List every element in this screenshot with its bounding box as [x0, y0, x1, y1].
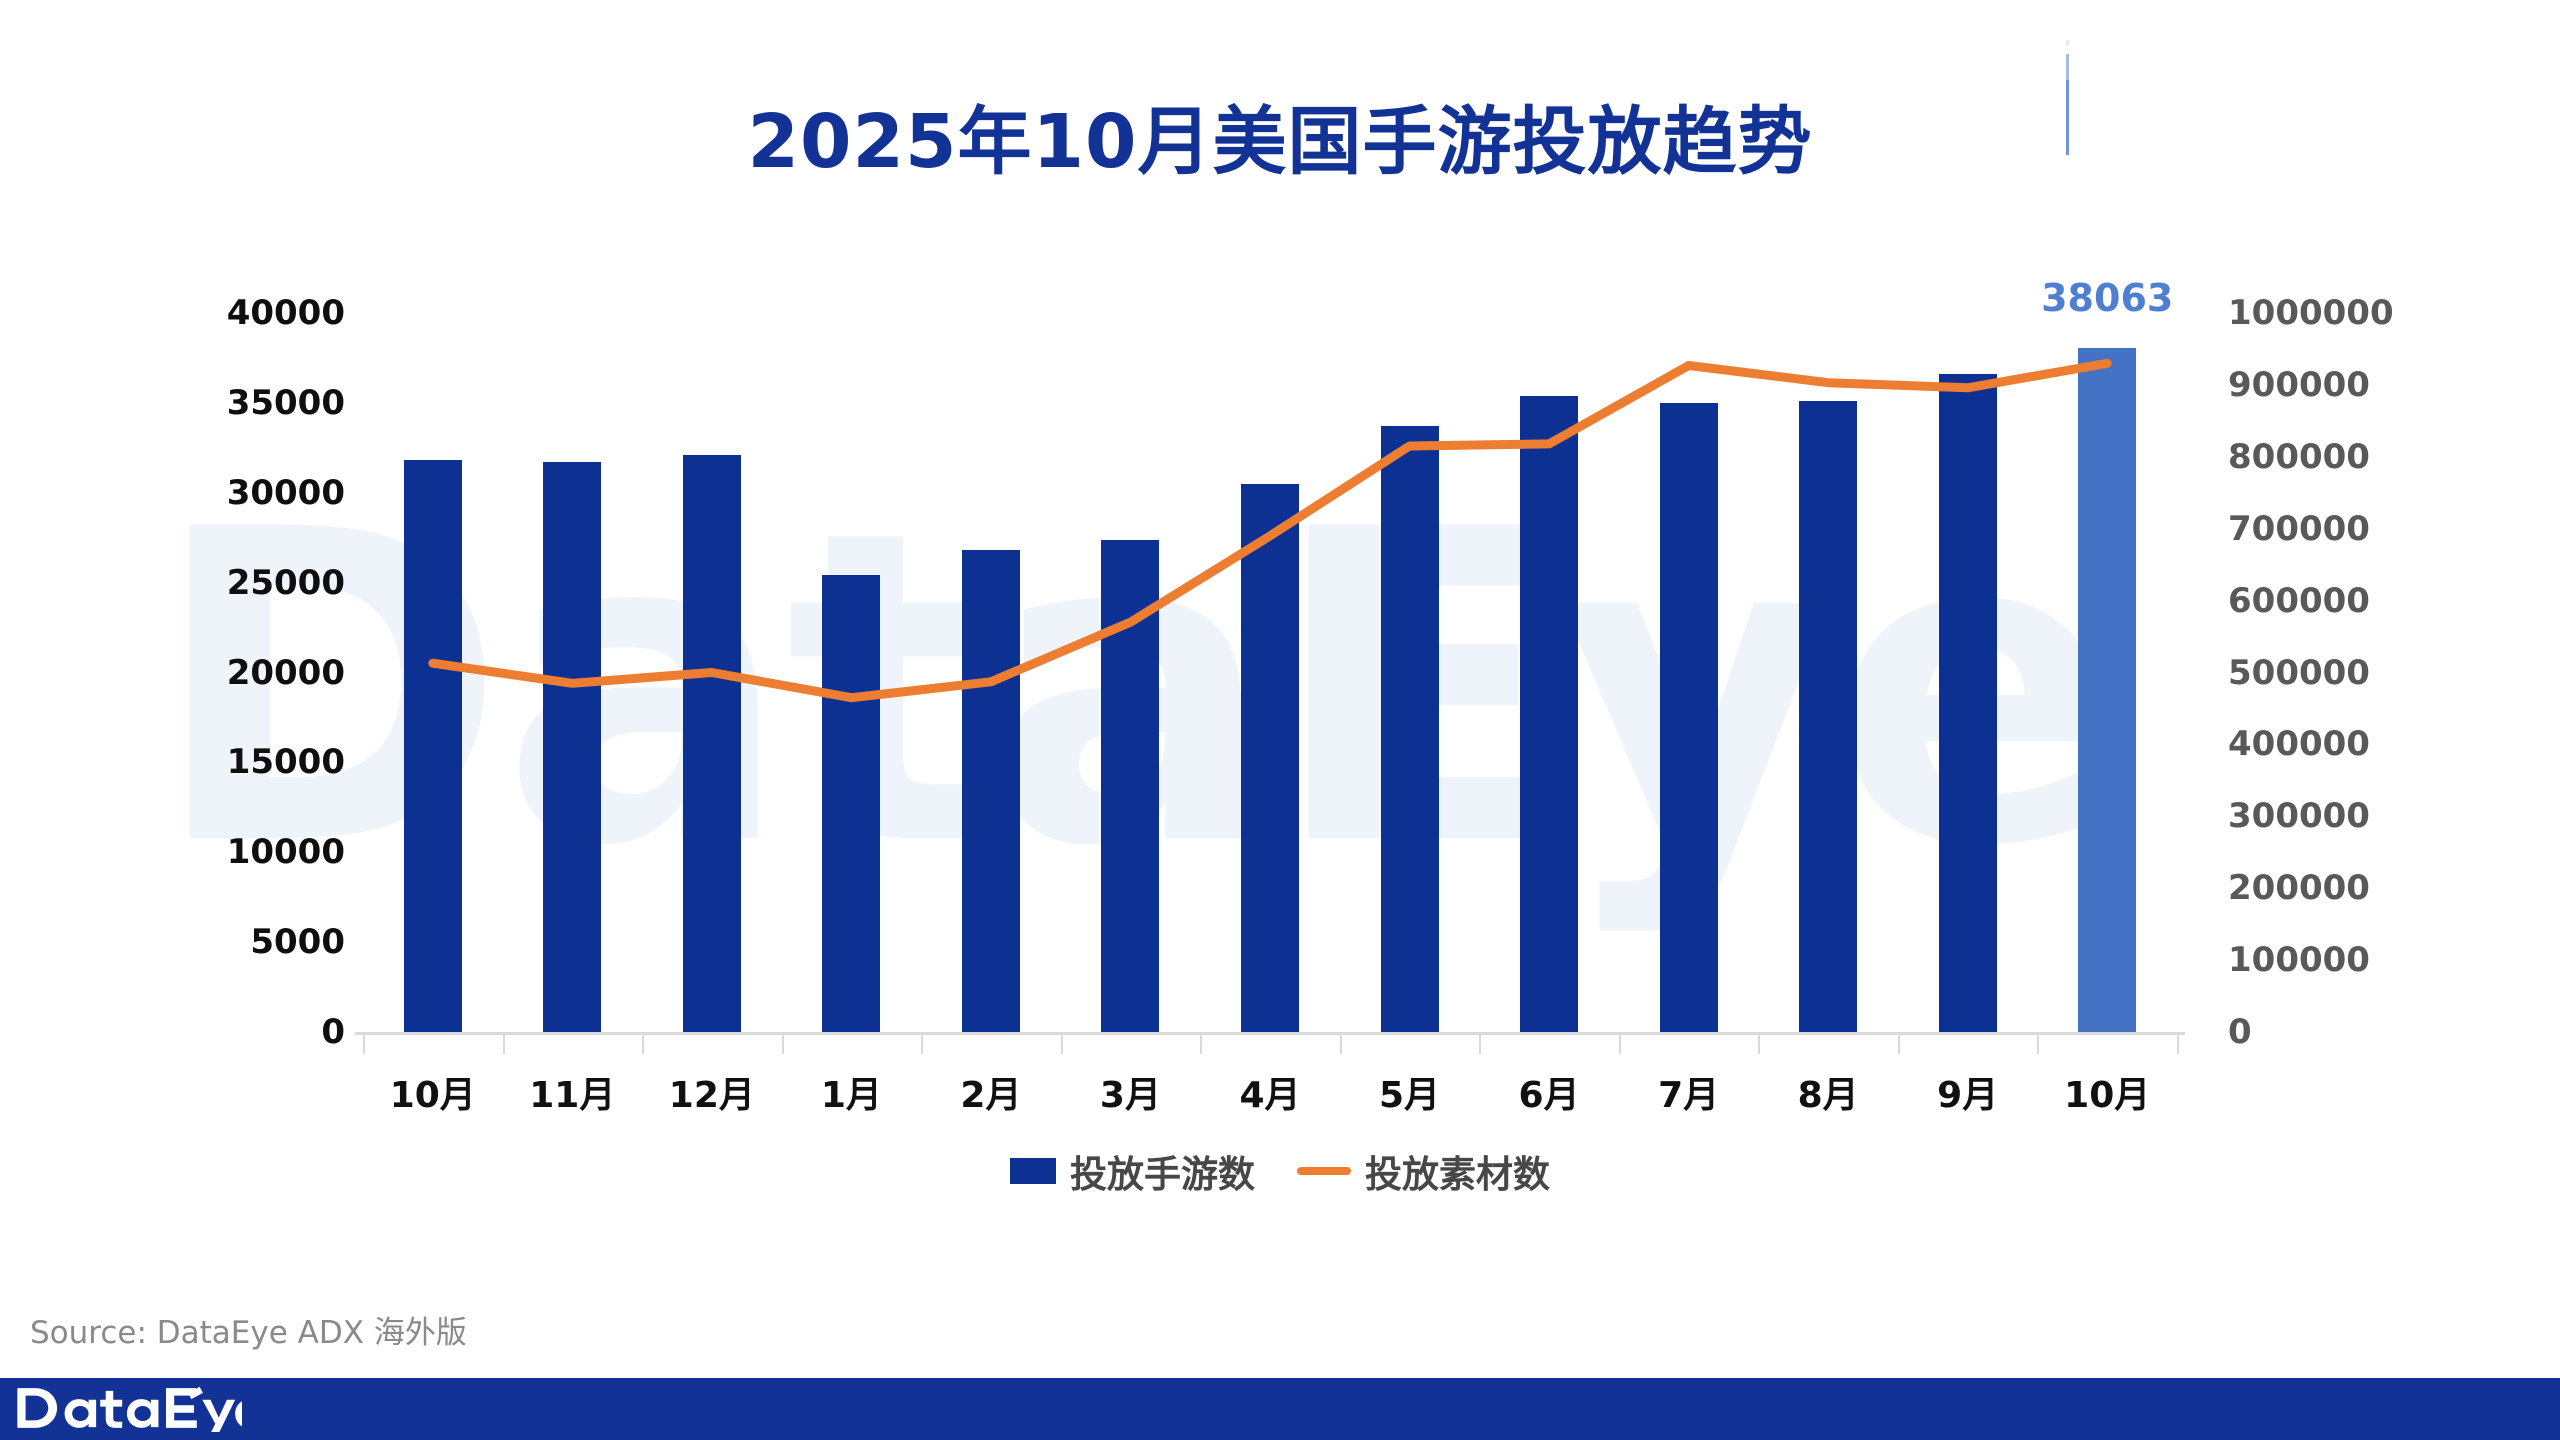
- x-axis-tick: [782, 1032, 784, 1054]
- x-axis-tick: [1340, 1032, 1342, 1054]
- y-axis-right-tick-label: 600000: [2228, 581, 2488, 621]
- x-axis-tick: [921, 1032, 923, 1054]
- bar-value-label: 38063: [2041, 276, 2173, 320]
- y-axis-right-tick-label: 1000000: [2228, 293, 2488, 333]
- x-axis-tick: [1619, 1032, 1621, 1054]
- y-axis-left-tick-label: 35000: [135, 383, 345, 423]
- y-axis-right-tick-label: 0: [2228, 1012, 2488, 1052]
- y-axis-left-tick-label: 15000: [135, 742, 345, 782]
- x-axis-label-9月: 9月: [1888, 1066, 2048, 1118]
- y-axis-left-tick-label: 5000: [135, 922, 345, 962]
- y-axis-right-tick-label: 300000: [2228, 796, 2488, 836]
- x-axis-label-4月: 4月: [1190, 1066, 1350, 1118]
- legend-item-line[interactable]: 投放素材数: [1297, 1144, 1550, 1198]
- page-title: 2025年10月美国手游投放趋势: [0, 82, 2560, 189]
- y-axis-left-tick-label: 0: [135, 1012, 345, 1052]
- x-axis-label-3月: 3月: [1050, 1066, 1210, 1118]
- bar-swatch-icon: [1010, 1158, 1056, 1184]
- x-axis-label-10月: 10月: [2027, 1066, 2187, 1118]
- x-axis-tick: [1061, 1032, 1063, 1054]
- line-swatch-icon: [1297, 1167, 1351, 1175]
- dataeye-logo-icon: [16, 1384, 242, 1432]
- chart-page: DataEye 2025年10月美国手游投放趋势 400003500030000…: [0, 0, 2560, 1440]
- x-axis-tick: [1758, 1032, 1760, 1054]
- x-axis-label-11月: 11月: [492, 1066, 652, 1118]
- y-axis-left-tick-label: 30000: [135, 473, 345, 513]
- plot-area: [363, 313, 2177, 1032]
- y-axis-left-tick-label: 20000: [135, 653, 345, 693]
- x-axis-label-2月: 2月: [911, 1066, 1071, 1118]
- y-axis-right-tick-label: 400000: [2228, 724, 2488, 764]
- x-axis-label-6月: 6月: [1469, 1066, 1629, 1118]
- x-axis-tick: [1200, 1032, 1202, 1054]
- legend-item-bars[interactable]: 投放手游数: [1010, 1144, 1255, 1198]
- legend-label-line: 投放素材数: [1365, 1144, 1550, 1198]
- y-axis-right-tick-label: 700000: [2228, 509, 2488, 549]
- x-axis-label-10月: 10月: [353, 1066, 513, 1118]
- x-axis-tick: [642, 1032, 644, 1054]
- line-series: [363, 313, 2177, 1032]
- line-series-path: [433, 363, 2107, 697]
- x-axis-label-12月: 12月: [632, 1066, 792, 1118]
- x-axis-tick: [2037, 1032, 2039, 1054]
- y-axis-left-tick-label: 40000: [135, 293, 345, 333]
- decorative-tick-mark: [2066, 40, 2069, 155]
- x-axis-label-7月: 7月: [1609, 1066, 1769, 1118]
- x-axis-tick: [1898, 1032, 1900, 1054]
- y-axis-right-tick-label: 100000: [2228, 940, 2488, 980]
- y-axis-right-tick-label: 200000: [2228, 868, 2488, 908]
- y-axis-right-tick-label: 800000: [2228, 437, 2488, 477]
- y-axis-left-tick-label: 10000: [135, 832, 345, 872]
- legend: 投放手游数 投放素材数: [0, 1144, 2560, 1198]
- x-axis-tick: [2177, 1032, 2179, 1054]
- y-axis-right-tick-label: 900000: [2228, 365, 2488, 405]
- x-axis-tick: [503, 1032, 505, 1054]
- x-axis-label-1月: 1月: [771, 1066, 931, 1118]
- source-note: Source: DataEye ADX 海外版: [30, 1307, 467, 1352]
- x-axis-baseline: [355, 1032, 2185, 1035]
- y-axis-right-tick-label: 500000: [2228, 653, 2488, 693]
- x-axis-tick: [1479, 1032, 1481, 1054]
- legend-label-bars: 投放手游数: [1070, 1144, 1255, 1198]
- x-axis-label-8月: 8月: [1748, 1066, 1908, 1118]
- footer-bar: DataEye: [0, 1378, 2560, 1440]
- y-axis-left-tick-label: 25000: [135, 563, 345, 603]
- x-axis-tick: [363, 1032, 365, 1054]
- x-axis-label-5月: 5月: [1330, 1066, 1490, 1118]
